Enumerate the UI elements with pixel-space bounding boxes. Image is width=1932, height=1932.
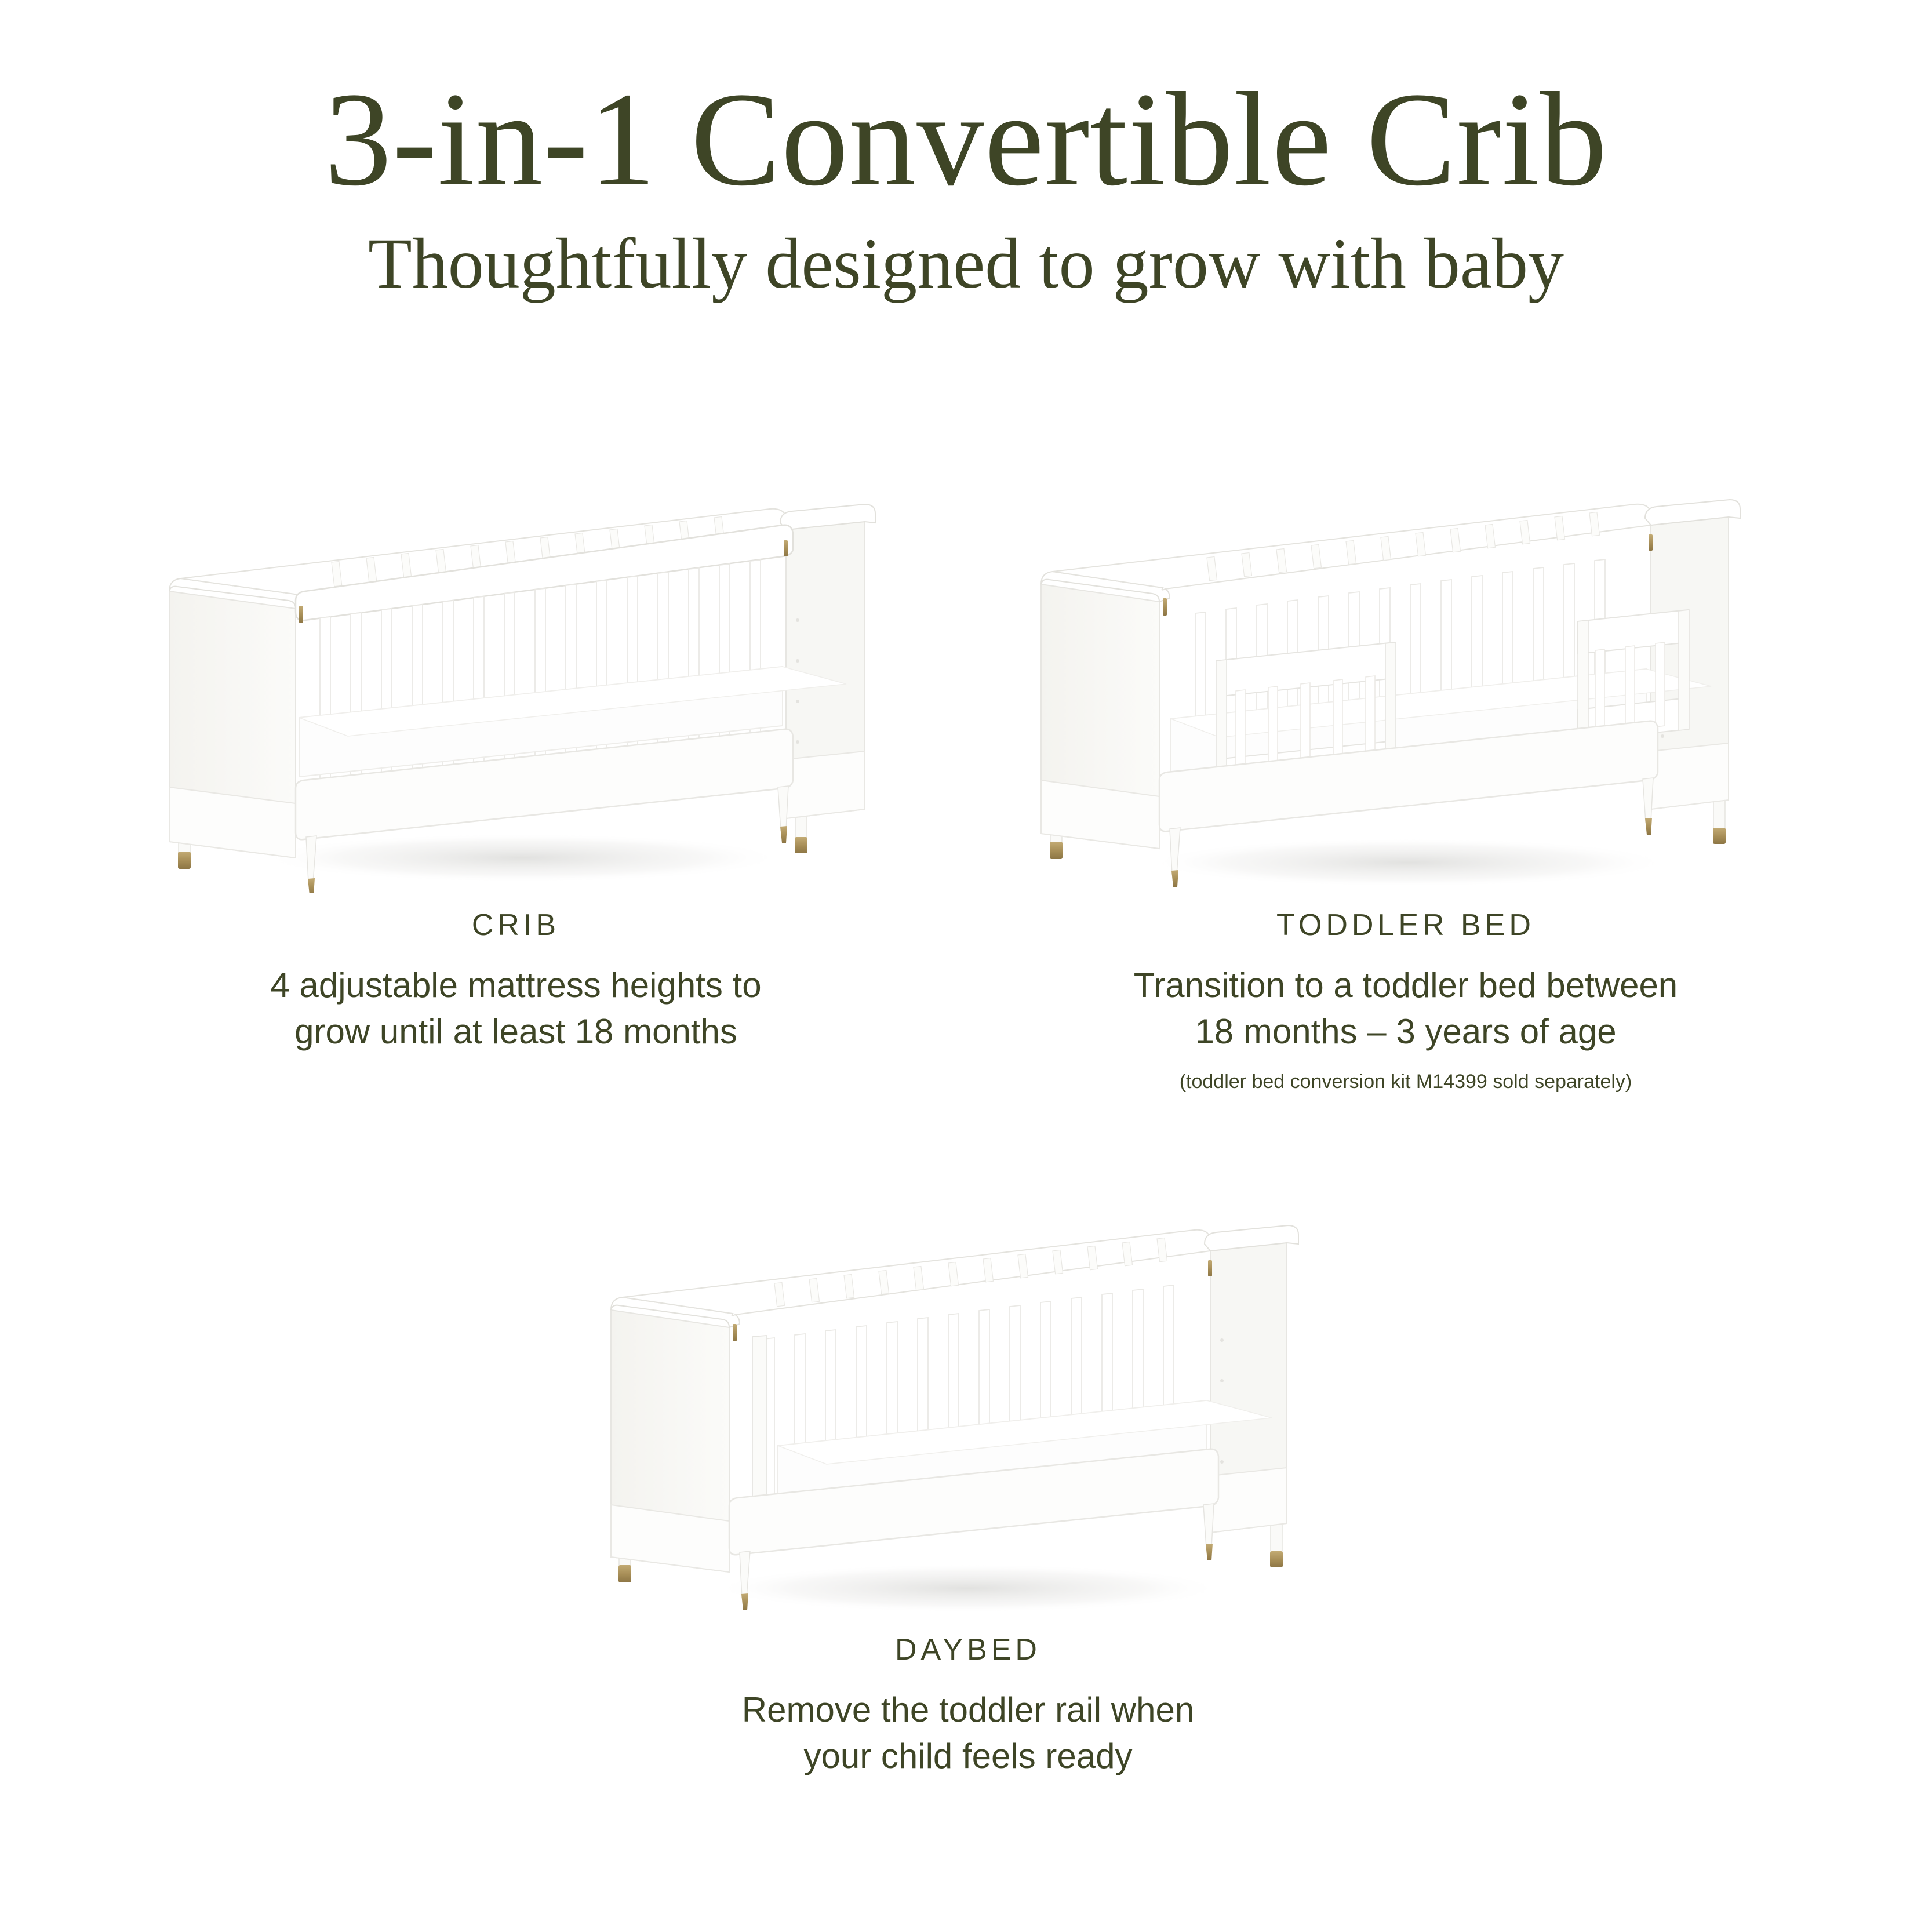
- crib-caption-line-1: 4 adjustable mattress heights to: [104, 962, 927, 1009]
- floor-shadow: [713, 1564, 1223, 1613]
- toddler-bed-caption-line-1: Transition to a toddler bed between: [985, 962, 1826, 1009]
- toddler-bed-caption-line-2: 18 months – 3 years of age: [985, 1009, 1826, 1055]
- brass-bracket-left: [299, 606, 303, 623]
- crib-illustration: [104, 487, 927, 893]
- brass-bracket-right: [1649, 534, 1653, 551]
- panel-toddler-bed: TODDLER BED Transition to a toddler bed …: [985, 487, 1826, 1095]
- daybed-caption-line-2: your child feels ready: [551, 1733, 1385, 1780]
- daybed-caption-title: DAYBED: [551, 1632, 1385, 1667]
- daybed-right-base-band: [1210, 1468, 1287, 1533]
- floor-shadow: [261, 834, 783, 882]
- floor-shadow: [1148, 838, 1669, 887]
- daybed-caption: DAYBED Remove the toddler rail when your…: [551, 1632, 1385, 1780]
- crib-caption-title: CRIB: [104, 908, 927, 943]
- brass-bracket-right: [1208, 1260, 1212, 1276]
- page-title: 3-in-1 Convertible Crib: [0, 70, 1932, 209]
- panel-crib: CRIB 4 adjustable mattress heights to gr…: [104, 487, 927, 1055]
- crib-right-base-band: [786, 751, 865, 818]
- toddler-bed-caption-note: (toddler bed conversion kit M14399 sold …: [985, 1069, 1826, 1096]
- daybed-leg-back-right: [1270, 1523, 1283, 1567]
- brass-bracket-right: [784, 540, 788, 556]
- crib-caption-line-2: grow until at least 18 months: [104, 1009, 927, 1055]
- page-header: 3-in-1 Convertible Crib Thoughtfully des…: [0, 70, 1932, 304]
- toddler-bed-caption: TODDLER BED Transition to a toddler bed …: [985, 908, 1826, 1095]
- brass-bracket-left: [1163, 598, 1167, 616]
- crib-leg-front-right: [778, 786, 788, 843]
- toddler-leg-front-right: [1643, 778, 1653, 835]
- infographic-page: 3-in-1 Convertible Crib Thoughtfully des…: [0, 0, 1932, 1932]
- toddler-bed-caption-title: TODDLER BED: [985, 908, 1826, 943]
- daybed-illustration: [551, 1211, 1385, 1617]
- toddler-bed-illustration: [985, 487, 1826, 893]
- daybed-leg-front-right: [1203, 1504, 1214, 1560]
- daybed-caption-line-1: Remove the toddler rail when: [551, 1687, 1385, 1733]
- toddler-right-base-band: [1651, 743, 1729, 809]
- brass-bracket-left: [733, 1324, 737, 1341]
- crib-caption: CRIB 4 adjustable mattress heights to gr…: [104, 908, 927, 1055]
- page-subtitle: Thoughtfully designed to grow with baby: [0, 224, 1932, 303]
- toddler-leg-back-right: [1713, 800, 1726, 844]
- panel-daybed: DAYBED Remove the toddler rail when your…: [551, 1211, 1385, 1780]
